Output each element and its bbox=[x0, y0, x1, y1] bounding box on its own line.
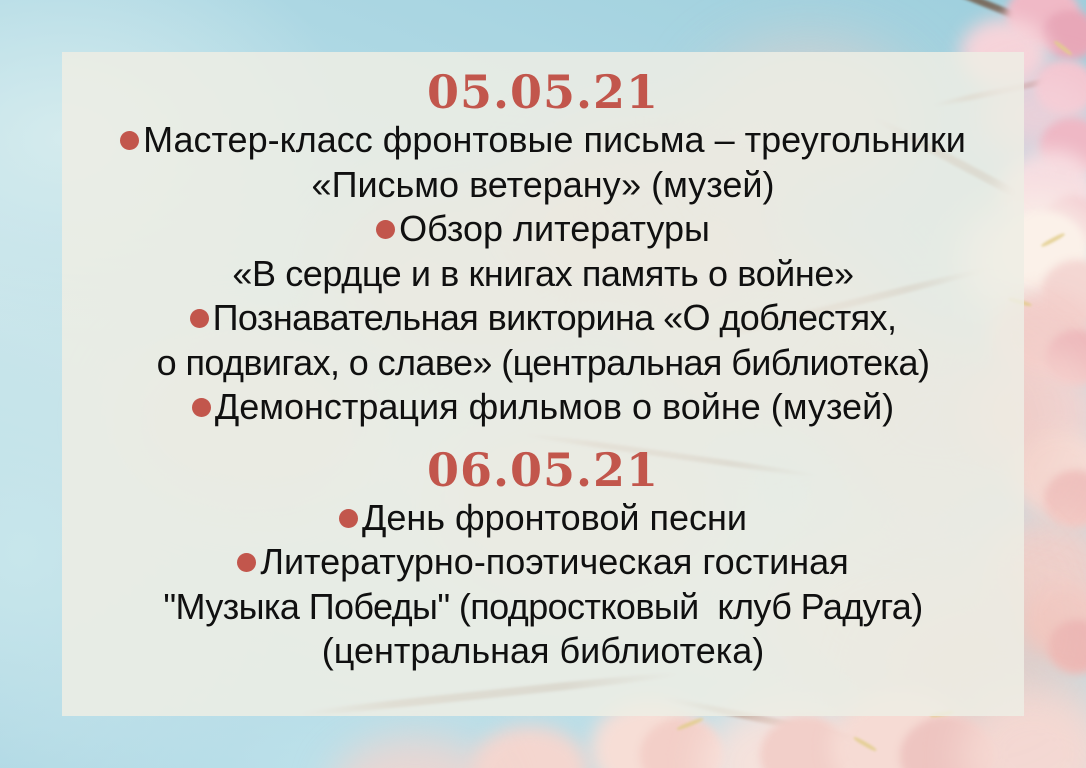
event-poster: 05.05.21 Мастер-класс фронтовые письма –… bbox=[0, 0, 1086, 768]
event-list: 05.05.21 Мастер-класс фронтовые письма –… bbox=[80, 66, 1006, 674]
event-text: Демонстрация фильмов о войне (музей) bbox=[215, 386, 894, 427]
date-heading-first: 05.05.21 bbox=[80, 66, 1006, 118]
event-line: Обзор литературы bbox=[80, 207, 1006, 251]
event-text: о подвигах, о славе» (центральная библио… bbox=[157, 342, 930, 383]
bullet-icon bbox=[376, 220, 395, 239]
event-line: "Музыка Победы" (подростковый клуб Радуг… bbox=[80, 585, 1006, 629]
event-text: «В сердце и в книгах память о войне» bbox=[232, 253, 853, 294]
event-line: День фронтовой песни bbox=[80, 496, 1006, 540]
event-line: Литературно-поэтическая гостиная bbox=[80, 540, 1006, 584]
event-text: Литературно-поэтическая гостиная bbox=[260, 541, 848, 582]
event-text: Мастер-класс фронтовые письма – треуголь… bbox=[143, 119, 966, 160]
event-line: (центральная библиотека) bbox=[80, 629, 1006, 673]
event-line: Демонстрация фильмов о войне (музей) bbox=[80, 385, 1006, 429]
event-text: (центральная библиотека) bbox=[322, 630, 765, 671]
content-panel: 05.05.21 Мастер-класс фронтовые письма –… bbox=[62, 52, 1024, 716]
event-line: Мастер-класс фронтовые письма – треуголь… bbox=[80, 118, 1006, 162]
event-text: «Письмо ветерану» (музей) bbox=[312, 164, 775, 205]
bullet-icon bbox=[120, 131, 139, 150]
event-text: "Музыка Победы" (подростковый клуб Радуг… bbox=[163, 586, 922, 627]
event-text: День фронтовой песни bbox=[362, 497, 747, 538]
event-text: Обзор литературы bbox=[399, 208, 710, 249]
event-line: Познавательная викторина «О доблестях, bbox=[80, 296, 1006, 340]
date-heading-second: 06.05.21 bbox=[80, 430, 1006, 496]
bullet-icon bbox=[339, 509, 358, 528]
event-line: «Письмо ветерану» (музей) bbox=[80, 163, 1006, 207]
bullet-icon bbox=[237, 553, 256, 572]
bullet-icon bbox=[192, 398, 211, 417]
event-line: о подвигах, о славе» (центральная библио… bbox=[80, 341, 1006, 385]
event-text: Познавательная викторина «О доблестях, bbox=[213, 297, 897, 338]
event-line: «В сердце и в книгах память о войне» bbox=[80, 252, 1006, 296]
bullet-icon bbox=[190, 309, 209, 328]
